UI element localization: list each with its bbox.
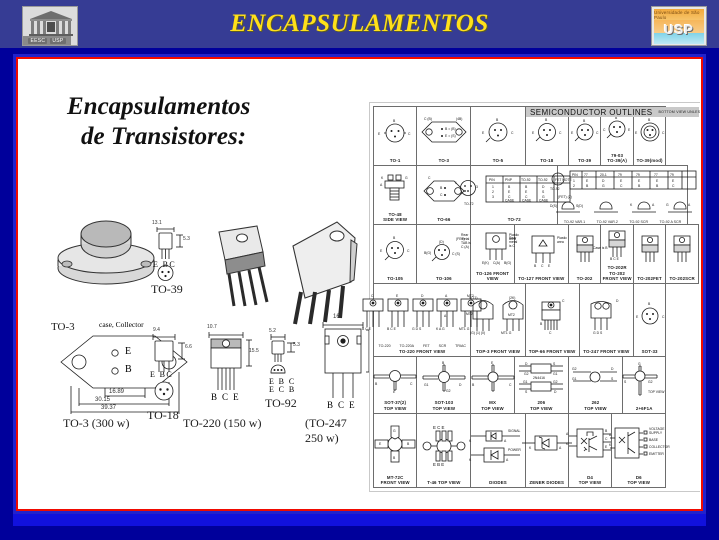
svg-text:B: B [648, 302, 651, 306]
svg-text:TO-92: TO-92 [521, 178, 531, 182]
svg-text:E: E [482, 131, 485, 135]
svg-text:K: K [529, 446, 532, 450]
slide-frame: Encapsulamentos de Transistores: [13, 54, 706, 514]
svg-text:B C E: B C E [610, 257, 620, 261]
svg-text:B: B [534, 264, 537, 268]
outline-label: MX TOP VIEW [481, 399, 504, 413]
svg-text:A: A [652, 203, 655, 207]
svg-text:D(S): D(S) [550, 204, 557, 208]
table-row: BCE SOT-37(2) TOP VIEW BG1DG2 SOT-103 TO… [374, 356, 699, 413]
outline-label: DIODES [489, 479, 507, 487]
svg-text:CASE: CASE [505, 199, 515, 203]
svg-text:G: G [638, 362, 641, 366]
to39-dim-width: 13.1 [152, 220, 162, 226]
outline-label: TO-105 [387, 275, 403, 283]
svg-text:G: G [602, 184, 605, 188]
to247-pin-labels: B C E [327, 400, 356, 410]
svg-text:S: S [553, 362, 556, 366]
outline-label: 2+6F1A [636, 405, 653, 413]
svg-text:B: B [393, 236, 396, 240]
svg-text:B: B [586, 184, 589, 188]
outline-label: TO-92 SCR [629, 220, 648, 224]
svg-text:E B E: E B E [433, 462, 444, 467]
svg-text:G2: G2 [572, 367, 577, 371]
svg-text:B C E: B C E [387, 327, 397, 331]
svg-text:B C E: B C E [362, 327, 372, 331]
svg-text:E: E [491, 361, 494, 365]
svg-text:E: E [636, 315, 639, 319]
to247-perspective-drawing [279, 220, 367, 330]
svg-text:B: B [442, 361, 445, 365]
outlines-grid: BEC TO-1 C (B)(4B)B = (B)E = (S) TO-3 BE… [373, 106, 699, 488]
outline-label: TO-39 [578, 157, 591, 165]
svg-text:2: 2 [573, 184, 575, 188]
svg-text:79: 79 [618, 173, 622, 177]
svg-text:B: B [656, 184, 659, 188]
outline-cell-to-247[interactable]: DG D S TO-247 FRONT VIEW [579, 284, 633, 356]
svg-text:E: E [620, 179, 623, 183]
svg-text:B: B [508, 185, 511, 189]
svg-text:1: 1 [492, 185, 494, 189]
slide-bottom-band [13, 514, 706, 526]
to3-dim-inner: 16.89 [109, 389, 124, 395]
svg-text:COLLECTOR: COLLECTOR [649, 445, 670, 449]
semiconductor-outlines-table: SEMICONDUCTOR OUTLINES BOTTOM VIEW UNLES… [369, 102, 701, 492]
svg-text:E: E [605, 445, 608, 449]
outline-cell-sot-103[interactable]: BG1DG2 SOT-103 TOP VIEW [417, 356, 471, 413]
to18-dim-height: 6.6 [185, 344, 192, 350]
svg-text:(D): (D) [439, 240, 444, 244]
svg-text:V(T1): V(T1) [469, 296, 477, 300]
svg-text:A: A [380, 183, 383, 187]
svg-text:E: E [508, 190, 511, 194]
svg-text:77: 77 [654, 173, 658, 177]
svg-text:G1: G1 [523, 380, 528, 384]
svg-text:E: E [635, 131, 638, 135]
svg-text:E C E: E C E [433, 425, 445, 430]
usp-logo: Universidade de São Paulo USP [651, 6, 707, 46]
svg-text:area: area [557, 240, 564, 244]
svg-text:K: K [609, 443, 612, 447]
svg-text:G: G [405, 176, 408, 180]
outline-label: TO-92 VAR.1 [564, 220, 585, 224]
svg-text:G2: G2 [446, 389, 451, 393]
svg-text:D: D [616, 299, 619, 303]
outline-cell-to-92-group[interactable]: TO-92 PIN7720-179797779 1EDEEEE 2BGCBBC … [558, 166, 688, 225]
svg-text:E: E [656, 179, 659, 183]
svg-text:D: D [421, 294, 424, 298]
svg-text:D: D [542, 185, 545, 189]
svg-text:C: C [428, 176, 431, 180]
svg-text:G2: G2 [648, 380, 653, 384]
to92-dim-height: 5.3 [293, 342, 300, 348]
svg-text:C: C [620, 184, 623, 188]
svg-text:B: B [648, 118, 651, 122]
svg-text:PIN: PIN [489, 178, 495, 182]
outline-label: TO-126 FRONT VIEW [471, 270, 513, 284]
svg-text:C: C [672, 184, 675, 188]
outline-cell-top-66[interactable]: CCB TOP-66 FRONT VIEW [525, 284, 579, 356]
svg-text:E: E [396, 294, 399, 298]
outline-cell-to-202r[interactable]: B C E TO-202R TO-202 FRONT VIEW [601, 225, 633, 284]
outline-label: 262 TOP VIEW [584, 399, 607, 413]
outline-label: TOP-66 FRONT VIEW [529, 348, 576, 356]
outline-cell-to-5[interactable]: BEC TO-5 [471, 107, 525, 166]
svg-text:C: C [408, 132, 411, 136]
svg-text:B: B [472, 383, 475, 387]
svg-text:C: C [662, 131, 665, 135]
heading-line-2: de Transistores: [67, 122, 347, 152]
svg-text:A: A [609, 433, 612, 437]
table-header-band: SEMICONDUCTOR OUTLINES BOTTOM VIEW UNLES… [526, 107, 699, 117]
outline-label: TOP-3 FRONT VIEW [476, 348, 520, 356]
outline-cell-to-202[interactable]: Case is B TO-202 [568, 225, 600, 284]
outline-cell-mt-72c[interactable]: EBBG MT-72C FRONT VIEW [374, 413, 417, 487]
to18-caption: TO-18 [147, 408, 179, 423]
to247-caption: (TO-247 250 w) [305, 416, 363, 446]
title-bar: EESC USP ENCAPSULAMENTOS Universidade de… [0, 0, 719, 48]
svg-text:E: E [548, 264, 551, 268]
to3-pin-e-label: E [125, 346, 131, 357]
to39-pin-labels: E BC [153, 260, 176, 269]
svg-text:3: 3 [492, 195, 494, 199]
svg-text:B: B [393, 119, 396, 123]
svg-text:B: B [496, 118, 499, 122]
svg-text:G: G [393, 429, 396, 433]
svg-text:TO-72: TO-72 [464, 202, 474, 206]
svg-text:G1: G1 [572, 377, 577, 381]
svg-text:C: C [509, 383, 512, 387]
outline-label: 206 TOP VIEW [530, 399, 553, 413]
outline-label: TO-66 [437, 216, 450, 224]
svg-text:is C: is C [509, 244, 515, 248]
svg-text:C: C [541, 264, 544, 268]
svg-text:G2: G2 [524, 372, 529, 376]
to92-caption: TO-92 [265, 396, 297, 411]
outline-cell-to-105[interactable]: BEC TO-105 [374, 225, 417, 284]
to220-dim-width: 10.7 [207, 324, 217, 330]
svg-text:TOP VIEW: TOP VIEW [648, 390, 665, 394]
svg-text:C: C [605, 437, 608, 441]
svg-text:K: K [469, 458, 472, 462]
svg-text:A: A [444, 314, 447, 318]
svg-text:E: E [380, 249, 383, 253]
outline-cell-to-72[interactable]: 13TO-72 PINPNPTO-92TO-92FET NOTE 1BBD 2E… [471, 166, 558, 225]
outline-label: TO-127 FRONT VIEW [518, 275, 564, 283]
outline-label: TO-1 [390, 157, 401, 165]
outline-cell-to-202scr[interactable]: TO-202SCR [666, 225, 699, 284]
outline-cell-to-48[interactable]: KGA TO-48 SIDE VIEW [374, 166, 417, 225]
outline-cell-t-46[interactable]: E C E E B E T-46 TOP VIEW [417, 413, 471, 487]
to18-dim-width: 9.4 [153, 327, 160, 333]
to220-dim-height: 15.5 [249, 348, 259, 354]
table-row: BEC TO-105 (FET)(D)B(G)C (S) TO-106 Rear… [374, 225, 699, 284]
outline-label: TO-39(mod) [637, 157, 663, 165]
to247-dim-width: 16 [333, 314, 340, 320]
svg-text:3: 3 [476, 185, 478, 189]
outline-label: SOT-33 [642, 348, 658, 356]
to39-drawing [149, 223, 201, 283]
svg-text:C (B): C (B) [424, 117, 432, 121]
svg-text:B = (B): B = (B) [445, 127, 456, 131]
outline-cell-sot-33[interactable]: BEC SOT-33 [633, 284, 665, 356]
outline-label: TO-92 A SCR [660, 220, 682, 224]
outline-label: TO-18 [540, 157, 553, 165]
svg-text:S: S [525, 390, 528, 394]
outline-label: TO-202R TO-202 FRONT VIEW [601, 264, 632, 283]
svg-text:(2K): (2K) [509, 296, 515, 300]
svg-text:C (S): C (S) [452, 252, 460, 256]
svg-text:B: B [525, 185, 528, 189]
svg-text:B: B [638, 184, 641, 188]
svg-text:A: A [559, 446, 562, 450]
svg-text:E: E [638, 179, 641, 183]
usp-logo-caption: Universidade de São Paulo [654, 9, 704, 20]
svg-text:PNP: PNP [505, 178, 513, 182]
svg-text:A: A [688, 203, 691, 207]
svg-text:A: A [504, 439, 507, 443]
svg-text:MT2: MT2 [508, 313, 515, 317]
svg-text:BASE: BASE [649, 438, 659, 442]
svg-text:B: B [583, 119, 586, 123]
svg-text:E(K): E(K) [482, 261, 489, 265]
svg-text:A: A [506, 458, 509, 462]
slide-heading: Encapsulamentos de Transistores: [67, 92, 347, 151]
svg-text:E: E [571, 131, 574, 135]
outline-label: TO-48 SIDE VIEW [383, 211, 407, 225]
svg-text:C: C [562, 299, 565, 303]
outline-cell-sot-37[interactable]: BCE SOT-37(2) TOP VIEW [374, 356, 417, 413]
svg-text:C: C [410, 382, 413, 386]
outline-cell-2-6f1a[interactable]: GSG2TOP VIEW 2+6F1A [623, 356, 666, 413]
to3-case-note: case, Collector [99, 320, 144, 329]
svg-text:CASE: CASE [522, 199, 532, 203]
svg-text:79: 79 [670, 173, 674, 177]
svg-text:D: D [602, 179, 605, 183]
outline-label: MT-72C FRONT VIEW [381, 474, 410, 488]
svg-text:B: B [545, 118, 548, 122]
table-row: CB C E EB C E DG D S [374, 284, 699, 356]
to3-caption: TO-3 (300 w) [63, 416, 129, 431]
slide-content: Encapsulamentos de Transistores: [18, 59, 701, 509]
page-title: ENCAPSULAMENTOS [0, 0, 719, 48]
table-title: SEMICONDUCTOR OUTLINES [526, 108, 652, 117]
to3-perspective-drawing [51, 220, 161, 290]
outline-sublabel: TO-220 [378, 344, 390, 348]
svg-text:E: E [672, 179, 675, 183]
outline-cell-diodes[interactable]: KASIGNAL KAPOWER DIODES [471, 413, 525, 487]
svg-text:C: C [662, 315, 665, 319]
svg-text:A: A [445, 294, 448, 298]
svg-text:B: B [540, 322, 543, 326]
outline-label: TO-202 [577, 275, 593, 283]
svg-text:D: D [459, 383, 462, 387]
svg-text:B: B [375, 382, 378, 386]
outline-cell-d4-optocoupler[interactable]: AK BCE D4 TOP VIEW [568, 413, 611, 487]
outline-cell-to-1[interactable]: BEC TO-1 [374, 107, 417, 166]
table-row: KGA TO-48 SIDE VIEW BCC TO-66 13TO-72 PI… [374, 166, 699, 225]
svg-text:1: 1 [573, 179, 575, 183]
svg-text:SUPPLY: SUPPLY [649, 431, 663, 435]
to3-dim-mid: 30.15 [95, 397, 110, 403]
usp-logo-wordmark: USP [652, 21, 706, 37]
svg-text:G D S: G D S [593, 331, 603, 335]
svg-text:C: C [407, 249, 410, 253]
outline-label: 79-03 TO-39(A) [607, 152, 627, 166]
to220-pin-labels: B C E [211, 392, 240, 402]
svg-text:D: D [611, 367, 614, 371]
svg-text:C (A): C (A) [461, 245, 469, 249]
table-subtitle: BOTTOM VIEW UNLESS OTHERWISE STATED [652, 110, 701, 114]
outline-cell-to-202fet[interactable]: TO-202FET [633, 225, 665, 284]
svg-text:G1: G1 [424, 383, 429, 387]
outline-label: TO-220 FRONT VIEW [399, 348, 445, 356]
outline-label: TO-202SCR [669, 275, 694, 283]
transistor-package-drawings: 13.1 5.3 E BC TO-39 [43, 220, 363, 485]
svg-text:(4B): (4B) [456, 117, 462, 121]
svg-text:77: 77 [584, 173, 588, 177]
to220-perspective-drawing [201, 222, 279, 312]
svg-text:C(A): C(A) [493, 261, 500, 265]
svg-text:D: D [525, 362, 528, 366]
svg-text:K A G: K A G [436, 327, 445, 331]
svg-text:S: S [611, 377, 614, 381]
heading-line-1: Encapsulamentos [67, 93, 250, 120]
svg-text:79: 79 [636, 173, 640, 177]
outline-label-group: TO-92 VAR.1 TO-92 VAR.2 TO-92 SCR TO-92 … [558, 220, 687, 224]
svg-text:PIN: PIN [572, 173, 578, 177]
table-row: EBBG MT-72C FRONT VIEW E C E E B E T-46 … [374, 413, 699, 487]
outline-cell-to-220-group[interactable]: CB C E EB C E DG D S [374, 284, 471, 356]
outline-cell-mx[interactable]: EBC MX TOP VIEW [471, 356, 514, 413]
outline-label: TO-106 [436, 275, 452, 283]
svg-text:TO-92: TO-92 [538, 178, 548, 182]
outline-label: TO-5 [493, 157, 504, 165]
svg-text:K: K [630, 203, 633, 207]
outline-cell-zener-diodes[interactable]: KA ZENER DIODES [525, 413, 568, 487]
outline-label: ZENER DIODES [529, 479, 564, 487]
outline-label: TO-3 [439, 157, 450, 165]
svg-text:C: C [371, 294, 374, 298]
to18-pin-labels: E BC [150, 370, 173, 379]
svg-text:K: K [469, 439, 472, 443]
svg-text:20-1: 20-1 [600, 173, 607, 177]
svg-text:2N4416: 2N4416 [533, 376, 545, 380]
svg-text:G2: G2 [553, 380, 558, 384]
svg-text:B: B [440, 186, 443, 190]
outline-label: T-46 TOP VIEW [427, 479, 460, 487]
outline-cell-d6-optocoupler[interactable]: VOLTAGESUPPLYBASECOLLECTOREMITTER AK D6 … [612, 413, 666, 487]
svg-text:K: K [381, 176, 384, 180]
svg-text:G D S: G D S [412, 327, 422, 331]
to92-dim-width: 5.2 [269, 328, 276, 334]
svg-text:C: C [440, 193, 443, 197]
outline-cell-262[interactable]: G2DG1S 262 TOP VIEW [568, 356, 622, 413]
svg-text:E: E [393, 390, 396, 394]
svg-text:B(G): B(G) [424, 251, 431, 255]
outline-label: D6 TOP VIEW [628, 474, 651, 488]
to39-dim-height: 5.3 [183, 236, 190, 242]
outline-cell-206[interactable]: DSG2G12N4416 G1G2SD 206 TOP VIEW [514, 356, 568, 413]
outline-sublabel: TRIAC [455, 344, 466, 348]
svg-text:MT1 G: MT1 G [501, 331, 512, 335]
svg-text:G: G [666, 203, 669, 207]
svg-text:TO-92: TO-92 [550, 187, 560, 191]
to92-pin-table: TO-92 PIN7720-179797779 1EDEEEE 2BGCBBC [548, 170, 698, 194]
svg-text:K: K [566, 442, 569, 446]
to3-title: TO-3 [51, 321, 75, 333]
outline-label: TO-92 VAR.2 [597, 220, 618, 224]
svg-text:S: S [542, 190, 545, 194]
outline-label: SOT-37(2) TOP VIEW [384, 399, 407, 413]
to39-caption: TO-39 [151, 282, 183, 297]
svg-text:B: B [605, 429, 608, 433]
svg-text:C: C [549, 331, 552, 335]
svg-text:S(D): S(D) [576, 204, 583, 208]
to220-caption: TO-220 (150 w) [183, 416, 261, 431]
svg-text:C: C [511, 131, 514, 135]
svg-text:C: C [559, 131, 562, 135]
outline-label: D4 TOP VIEW [579, 474, 602, 488]
svg-text:E: E [586, 179, 589, 183]
svg-text:2: 2 [492, 190, 494, 194]
svg-text:D: D [554, 390, 557, 394]
svg-text:A: A [566, 432, 569, 436]
to3-pin-b-label: B [125, 364, 132, 375]
outline-label: TO-202FET [637, 275, 661, 283]
svg-text:G1: G1 [553, 372, 558, 376]
svg-text:S: S [624, 380, 627, 384]
svg-text:EMITTER: EMITTER [649, 452, 664, 456]
svg-text:C: C [603, 128, 606, 132]
outline-cell-to-3[interactable]: C (B)(4B)B = (B)E = (S) TO-3 [417, 107, 471, 166]
outline-cell-top-3[interactable]: (G) (1) (0)V(T1) MT2MT1 G(2K) TOP-3 FRON… [471, 284, 525, 356]
outline-cell-to-127[interactable]: Rearmetalis C Plasticarea BCE TO-127 FRO… [514, 225, 568, 284]
to3-dim-outer: 39.37 [101, 405, 116, 411]
svg-text:1: 1 [455, 181, 457, 185]
svg-text:E: E [525, 190, 528, 194]
outline-label: TO-72 [508, 216, 521, 224]
svg-text:(FET) (2): (FET) (2) [558, 195, 572, 199]
to92-pin-labels-b: E C B [269, 385, 296, 394]
svg-text:E = (S): E = (S) [445, 134, 456, 138]
svg-text:E: E [378, 132, 381, 136]
outline-label: TO-247 FRONT VIEW [583, 348, 629, 356]
outline-label: SOT-103 TOP VIEW [433, 399, 456, 413]
svg-text:(G) (1) (0): (G) (1) (0) [470, 331, 485, 335]
svg-text:E: E [532, 131, 535, 135]
